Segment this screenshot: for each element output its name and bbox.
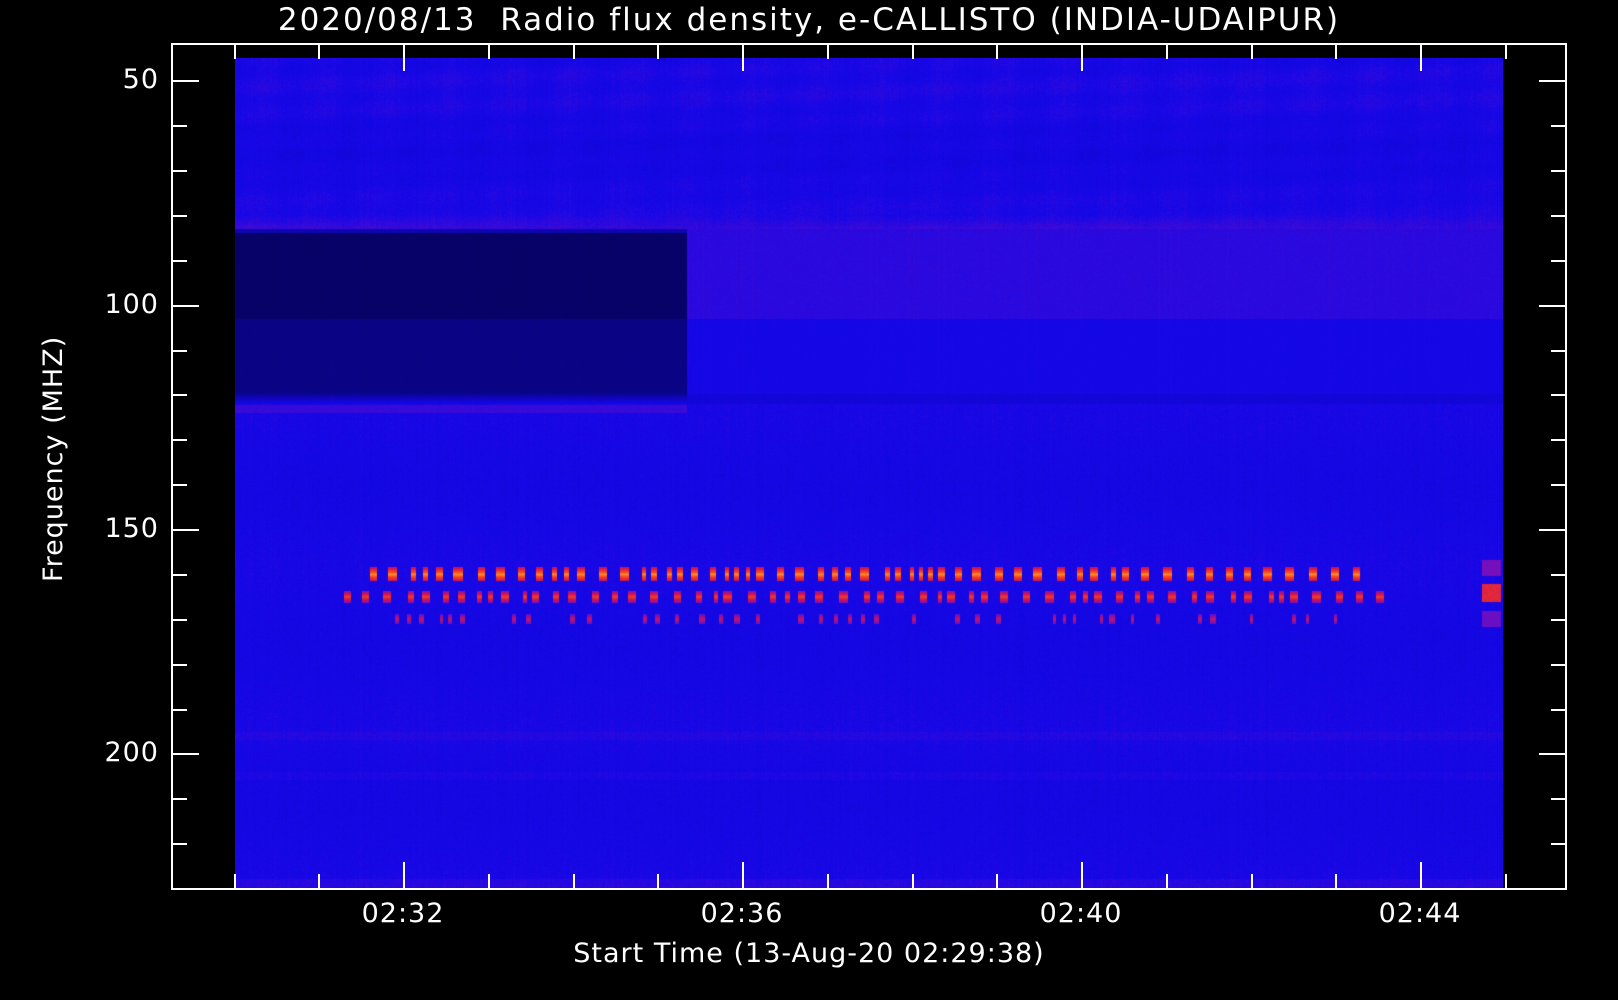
x-minor-tick-41 [1166,874,1168,888]
y-right-tick-110 [1551,350,1565,352]
x-top-tick-42 [1251,45,1253,59]
x-major-tick-40 [1081,862,1083,888]
y-major-tick-150 [173,529,199,531]
y-right-tick-200 [1539,753,1565,755]
x-top-tick-34 [573,45,575,59]
y-minor-tick-90 [173,260,187,262]
x-top-tick-35 [657,45,659,59]
x-tick-label-02-44: 02:44 [1340,898,1500,929]
x-top-tick-30 [234,45,236,59]
y-axis-title: Frequency (MHZ) [38,335,69,581]
y-right-tick-130 [1551,439,1565,441]
x-axis-title: Start Time (13-Aug-20 02:29:38) [0,938,1618,969]
x-minor-tick-34 [573,874,575,888]
y-right-tick-70 [1551,170,1565,172]
x-minor-tick-35 [657,874,659,888]
y-right-tick-140 [1551,484,1565,486]
y-minor-tick-210 [173,798,187,800]
x-top-tick-31 [318,45,320,59]
x-minor-tick-37 [827,874,829,888]
x-top-tick-36 [742,45,744,71]
x-major-tick-32 [403,862,405,888]
y-right-tick-60 [1551,125,1565,127]
radio-spectrogram-figure: 2020/08/13 Radio flux density, e-CALLIST… [0,0,1618,1000]
y-right-tick-50 [1539,80,1565,82]
y-minor-tick-160 [173,574,187,576]
plot-frame [171,43,1567,890]
y-minor-tick-110 [173,350,187,352]
y-tick-label-200: 200 [49,737,159,768]
y-tick-label-50: 50 [49,64,159,95]
y-minor-tick-170 [173,619,187,621]
y-right-tick-120 [1551,394,1565,396]
x-minor-tick-38 [912,874,914,888]
y-minor-tick-70 [173,170,187,172]
x-top-tick-40 [1081,45,1083,71]
x-minor-tick-33 [488,874,490,888]
y-major-tick-200 [173,753,199,755]
x-top-tick-45 [1505,45,1507,59]
y-right-tick-100 [1539,305,1565,307]
y-minor-tick-140 [173,484,187,486]
x-top-tick-39 [996,45,998,59]
y-right-tick-150 [1539,529,1565,531]
y-minor-tick-60 [173,125,187,127]
y-major-tick-100 [173,305,199,307]
y-right-tick-220 [1551,843,1565,845]
x-minor-tick-39 [996,874,998,888]
y-right-tick-180 [1551,664,1565,666]
y-major-tick-50 [173,80,199,82]
y-right-tick-90 [1551,260,1565,262]
y-right-tick-190 [1551,709,1565,711]
x-minor-tick-30 [234,874,236,888]
x-top-tick-37 [827,45,829,59]
y-right-tick-80 [1551,215,1565,217]
y-right-tick-170 [1551,619,1565,621]
x-tick-label-02-32: 02:32 [323,898,483,929]
y-minor-tick-130 [173,439,187,441]
x-major-tick-44 [1420,862,1422,888]
x-major-tick-36 [742,862,744,888]
y-minor-tick-120 [173,394,187,396]
y-minor-tick-220 [173,843,187,845]
y-right-tick-160 [1551,574,1565,576]
chart-title: 2020/08/13 Radio flux density, e-CALLIST… [0,2,1618,38]
x-top-tick-33 [488,45,490,59]
y-tick-label-100: 100 [49,289,159,320]
x-minor-tick-42 [1251,874,1253,888]
x-minor-tick-31 [318,874,320,888]
y-minor-tick-80 [173,215,187,217]
x-tick-label-02-40: 02:40 [1001,898,1161,929]
y-right-tick-230 [1551,888,1565,890]
x-minor-tick-45 [1505,874,1507,888]
y-minor-tick-190 [173,709,187,711]
x-top-tick-32 [403,45,405,71]
x-top-tick-41 [1166,45,1168,59]
y-minor-tick-180 [173,664,187,666]
y-minor-tick-230 [173,888,187,890]
y-right-tick-210 [1551,798,1565,800]
x-tick-label-02-36: 02:36 [662,898,822,929]
x-top-tick-44 [1420,45,1422,71]
x-top-tick-38 [912,45,914,59]
x-minor-tick-43 [1335,874,1337,888]
x-top-tick-43 [1335,45,1337,59]
